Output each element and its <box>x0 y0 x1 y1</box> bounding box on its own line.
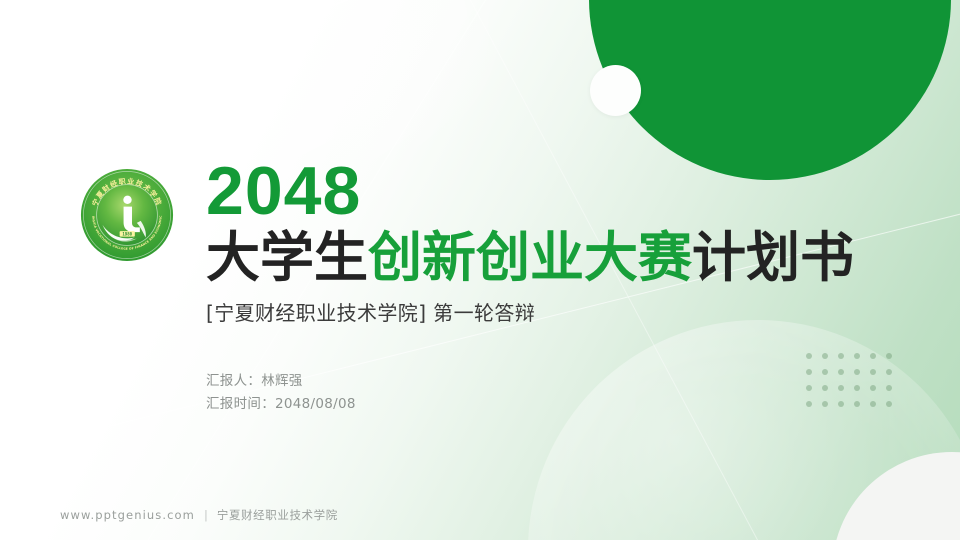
grid-dot <box>870 401 876 407</box>
grid-dot <box>870 385 876 391</box>
page-title-part-2: 创新创业大赛 <box>368 226 692 289</box>
year-heading: 2048 <box>206 158 826 225</box>
presentation-meta: 汇报人：林辉强 汇报时间：2048/08/08 <box>206 370 826 416</box>
page-title: 大学生创新创业大赛计划书 <box>206 229 826 286</box>
footer-separator: | <box>204 508 208 522</box>
grid-dot <box>886 369 892 375</box>
small-white-circle-decoration <box>590 65 641 116</box>
page-title-part-1: 大学生 <box>206 226 368 289</box>
subtitle: [宁夏财经职业技术学院] 第一轮答辩 <box>206 297 826 326</box>
footer-organization: 宁夏财经职业技术学院 <box>217 507 338 523</box>
svg-text:1980: 1980 <box>122 231 132 236</box>
footer: www.pptgenius.com | 宁夏财经职业技术学院 <box>60 507 338 523</box>
grid-dot <box>838 401 844 407</box>
grid-dot <box>854 401 860 407</box>
school-emblem-icon: 宁夏财经职业技术学院 NINGXIA VOCATIONAL COLLEGE OF… <box>78 166 176 264</box>
grid-dot <box>870 353 876 359</box>
grid-dot <box>838 369 844 375</box>
presenter-line: 汇报人：林辉强 <box>206 370 826 393</box>
grid-dot <box>886 401 892 407</box>
school-logo: 宁夏财经职业技术学院 NINGXIA VOCATIONAL COLLEGE OF… <box>66 154 188 276</box>
grid-dot <box>838 385 844 391</box>
grid-dot <box>838 353 844 359</box>
footer-website: www.pptgenius.com <box>60 508 195 522</box>
grid-dot <box>886 385 892 391</box>
grid-dot <box>870 369 876 375</box>
grid-dot <box>854 369 860 375</box>
title-text-block: 2048 大学生创新创业大赛计划书 [宁夏财经职业技术学院] 第一轮答辩 汇报人… <box>206 158 826 416</box>
date-line: 汇报时间：2048/08/08 <box>206 393 826 416</box>
large-green-circle-decoration <box>589 0 951 180</box>
page-title-part-3: 计划书 <box>692 226 854 289</box>
presentation-title-slide: 宁夏财经职业技术学院 NINGXIA VOCATIONAL COLLEGE OF… <box>0 0 960 540</box>
grid-dot <box>854 353 860 359</box>
grid-dot <box>854 385 860 391</box>
grid-dot <box>886 353 892 359</box>
